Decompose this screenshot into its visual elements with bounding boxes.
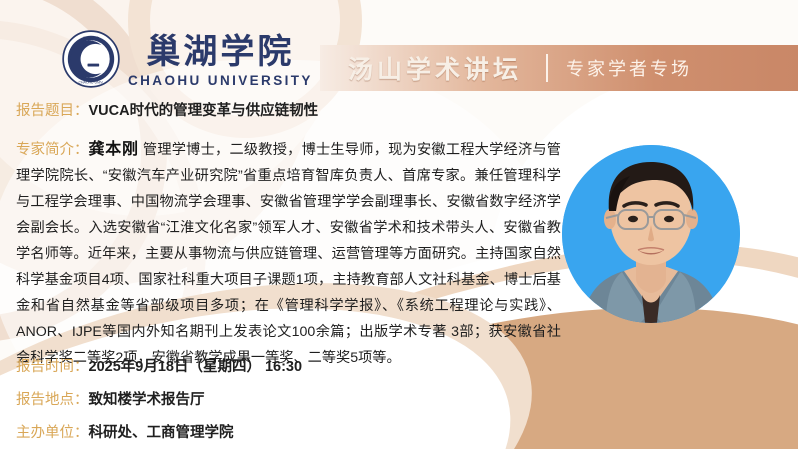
forum-banner: 汤山学术讲坛 专家学者专场 xyxy=(320,45,798,91)
university-logo: 巢湖学院 CHAOHU UNIV. 巢湖学院 CHAOHU UNIVERSITY xyxy=(62,30,313,88)
speaker-portrait-photo-icon xyxy=(562,145,740,323)
speaker-bio-label: 专家简介： xyxy=(16,137,89,163)
banner-main-title: 汤山学术讲坛 xyxy=(348,50,522,86)
report-title-label: 报告题目： xyxy=(16,99,89,120)
report-time-label: 报告时间： xyxy=(16,355,89,376)
banner-subtitle: 专家学者专场 xyxy=(566,55,692,81)
logo-name-en: CHAOHU UNIVERSITY xyxy=(128,73,313,88)
speaker-name: 龚本刚 xyxy=(89,141,139,158)
report-time-field: 报告时间： 2025年9月18日（星期四） 16:30 xyxy=(16,355,302,376)
report-title-value: VUCA时代的管理变革与供应链韧性 xyxy=(89,99,319,120)
svg-text:巢湖学院: 巢湖学院 xyxy=(83,35,99,41)
report-time-value: 2025年9月18日（星期四） 16:30 xyxy=(89,355,303,376)
speaker-bio-field: 专家简介： 龚本刚 管理学博士，二级教授，博士生导师，现为安徽工程大学经济与管理… xyxy=(16,137,561,371)
seminar-poster: 汤山学术讲坛 专家学者专场 巢湖学院 CHAOHU UNIV. 巢湖学院 CHA… xyxy=(0,0,798,449)
report-place-value: 致知楼学术报告厅 xyxy=(89,388,205,409)
speaker-bio-text: 管理学博士，二级教授，博士生导师，现为安徽工程大学经济与管理学院院长、“安徽汽车… xyxy=(16,142,561,366)
report-host-label: 主办单位： xyxy=(16,421,89,442)
report-place-field: 报告地点： 致知楼学术报告厅 xyxy=(16,388,205,409)
speaker-portrait xyxy=(562,145,740,323)
logo-name-cn: 巢湖学院 xyxy=(146,35,294,71)
chaohu-university-crest-icon: 巢湖学院 CHAOHU UNIV. xyxy=(62,30,120,88)
logo-wordmark: 巢湖学院 CHAOHU UNIVERSITY xyxy=(128,35,313,88)
report-host-field: 主办单位： 科研处、工商管理学院 xyxy=(16,421,234,442)
speaker-bio-body: 龚本刚 管理学博士，二级教授，博士生导师，现为安徽工程大学经济与管理学院院长、“… xyxy=(16,137,561,371)
banner-divider xyxy=(546,54,548,82)
report-title-field: 报告题目： VUCA时代的管理变革与供应链韧性 xyxy=(16,99,318,120)
report-place-label: 报告地点： xyxy=(16,388,89,409)
svg-text:CHAOHU UNIV.: CHAOHU UNIV. xyxy=(79,80,104,84)
report-host-value: 科研处、工商管理学院 xyxy=(89,421,234,442)
